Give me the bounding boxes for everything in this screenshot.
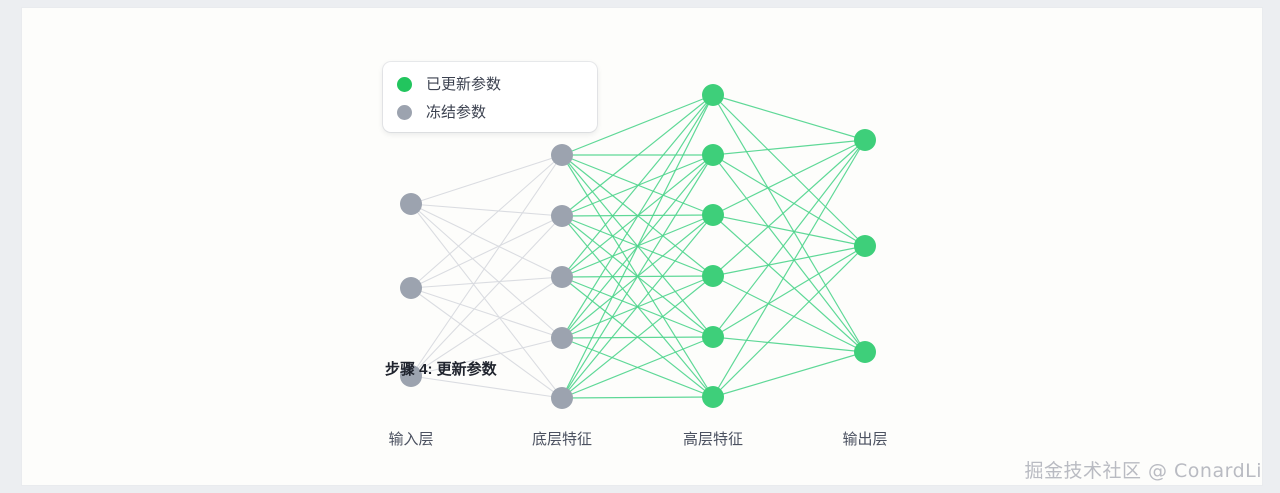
node-output-2[interactable]: [854, 235, 876, 257]
node-low-features-2[interactable]: [551, 205, 573, 227]
edge-input-1-to-low-features-0: [411, 155, 562, 288]
node-input-1[interactable]: [400, 193, 422, 215]
node-low-features-3[interactable]: [551, 266, 573, 288]
node-input-2[interactable]: [400, 277, 422, 299]
diagram-root: 已更新参数 冻结参数 步骤 4: 更新参数 输入层底层特征高层特征输出层 掘金技…: [0, 0, 1280, 493]
layer-caption-input: 输入层: [388, 428, 433, 449]
legend-panel: 已更新参数 冻结参数: [383, 62, 597, 132]
edge-input-0-to-low-features-3: [411, 204, 562, 338]
edge-high-features-3-to-output-1: [713, 246, 865, 276]
node-high-features-1[interactable]: [702, 84, 724, 106]
edge-high-features-4-to-output-2: [713, 337, 865, 352]
legend-dot-updated-icon: [397, 77, 412, 92]
node-high-features-3[interactable]: [702, 204, 724, 226]
edge-low-features-4-to-high-features-0: [562, 95, 713, 398]
edge-high-features-2-to-output-1: [713, 215, 865, 246]
edge-input-1-to-low-features-2: [411, 277, 562, 288]
watermark-text: 掘金技术社区 @ ConardLi: [1024, 456, 1262, 483]
layer-caption-high-features: 高层特征: [683, 428, 743, 449]
node-high-features-5[interactable]: [702, 326, 724, 348]
node-output-3[interactable]: [854, 341, 876, 363]
edge-input-1-to-low-features-1: [411, 216, 562, 288]
legend-dot-frozen-icon: [397, 105, 412, 120]
node-high-features-2[interactable]: [702, 144, 724, 166]
node-high-features-6[interactable]: [702, 386, 724, 408]
edge-high-features-3-to-output-0: [713, 140, 865, 276]
edge-high-features-2-to-output-2: [713, 215, 865, 352]
edge-input-2-to-low-features-4: [411, 376, 562, 398]
edge-input-0-to-low-features-1: [411, 204, 562, 216]
node-low-features-4[interactable]: [551, 327, 573, 349]
edge-low-features-4-to-high-features-4: [562, 337, 713, 398]
edges-group: [411, 95, 865, 398]
edge-high-features-1-to-output-2: [713, 155, 865, 352]
node-low-features-5[interactable]: [551, 387, 573, 409]
legend-label-updated: 已更新参数: [426, 77, 501, 92]
edge-high-features-4-to-output-0: [713, 140, 865, 337]
legend-item-frozen: 冻结参数: [397, 99, 583, 125]
neural-network-diagram: [0, 0, 1280, 493]
edge-low-features-4-to-high-features-5: [562, 397, 713, 398]
layer-caption-output: 输出层: [842, 428, 887, 449]
legend-label-frozen: 冻结参数: [426, 105, 486, 120]
node-low-features-1[interactable]: [551, 144, 573, 166]
step-caption: 步骤 4: 更新参数: [385, 358, 497, 379]
node-output-1[interactable]: [854, 129, 876, 151]
edge-high-features-1-to-output-0: [713, 140, 865, 155]
node-high-features-4[interactable]: [702, 265, 724, 287]
edge-input-0-to-low-features-0: [411, 155, 562, 204]
layer-caption-low-features: 底层特征: [532, 428, 592, 449]
legend-item-updated: 已更新参数: [397, 71, 583, 97]
